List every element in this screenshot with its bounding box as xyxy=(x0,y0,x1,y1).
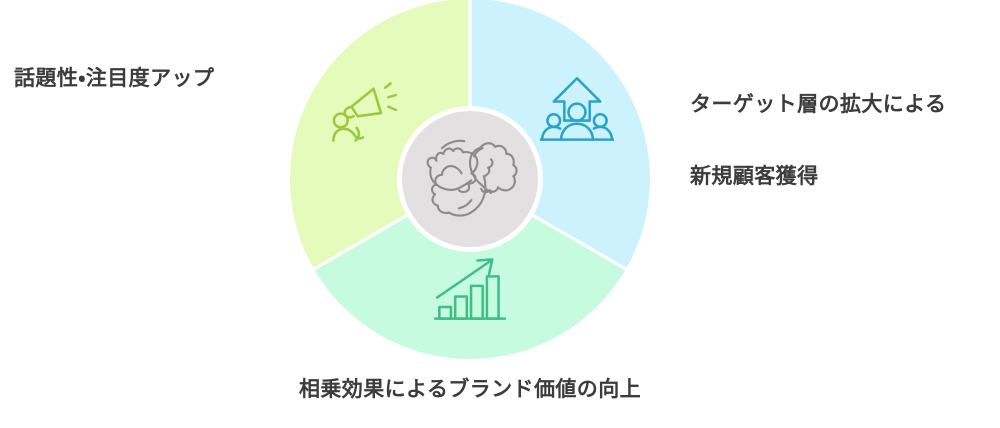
hub-circle[interactable] xyxy=(402,111,538,247)
label-target-expansion: ターゲット層の拡大による 新規顧客獲得 xyxy=(690,51,990,232)
label-target-expansion-line2: 新規顧客獲得 xyxy=(690,159,990,195)
label-buzz-attention: 話題性・注目度アップ xyxy=(14,61,282,97)
label-brand-value: 相乗効果によるブランド価値の向上 xyxy=(200,372,740,408)
donut-chart xyxy=(290,0,650,359)
diagram-canvas: 話題性・注目度アップ ターゲット層の拡大による 新規顧客獲得 相乗効果によるブラ… xyxy=(0,0,1000,428)
label-target-expansion-line1: ターゲット層の拡大による xyxy=(690,87,990,123)
